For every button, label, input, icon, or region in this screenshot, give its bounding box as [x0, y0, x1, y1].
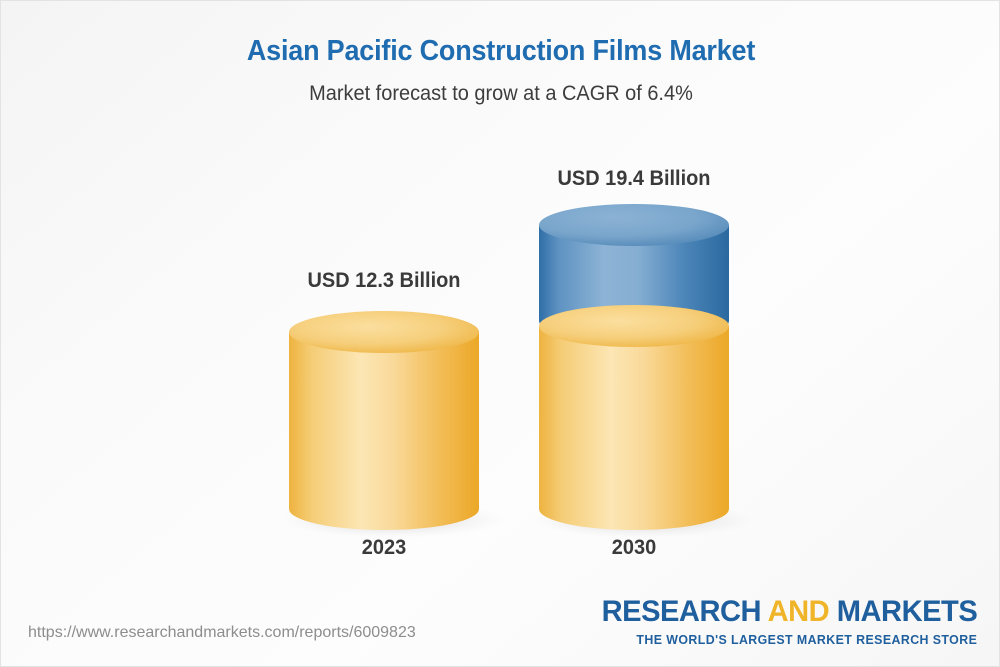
bar-2023-body — [289, 332, 479, 530]
bar-2030 — [531, 204, 755, 538]
brand-logo[interactable]: RESEARCH AND MARKETS THE WORLD'S LARGEST… — [590, 597, 977, 647]
logo-wordmark: RESEARCH AND MARKETS — [601, 597, 977, 627]
cylinder-bar-chart — [1, 1, 1000, 667]
logo-and-text: AND — [767, 595, 829, 628]
logo-research-text: RESEARCH — [601, 595, 767, 628]
value-label-2023: USD 12.3 Billion — [294, 269, 475, 293]
logo-tagline: THE WORLD'S LARGEST MARKET RESEARCH STOR… — [594, 634, 977, 647]
value-label-2030: USD 19.4 Billion — [544, 167, 725, 191]
bar-2023 — [281, 311, 505, 538]
category-label-2030: 2030 — [544, 536, 725, 560]
logo-markets-text: MARKETS — [829, 595, 977, 628]
bar-2030-top-cap — [539, 204, 729, 246]
category-label-2023: 2023 — [294, 536, 475, 560]
bar-2030-gold-segment — [539, 326, 729, 530]
source-url[interactable]: https://www.researchandmarkets.com/repor… — [28, 624, 416, 642]
bar-2023-top-cap — [289, 311, 479, 353]
infographic-canvas: Asian Pacific Construction Films Market … — [0, 0, 1000, 667]
